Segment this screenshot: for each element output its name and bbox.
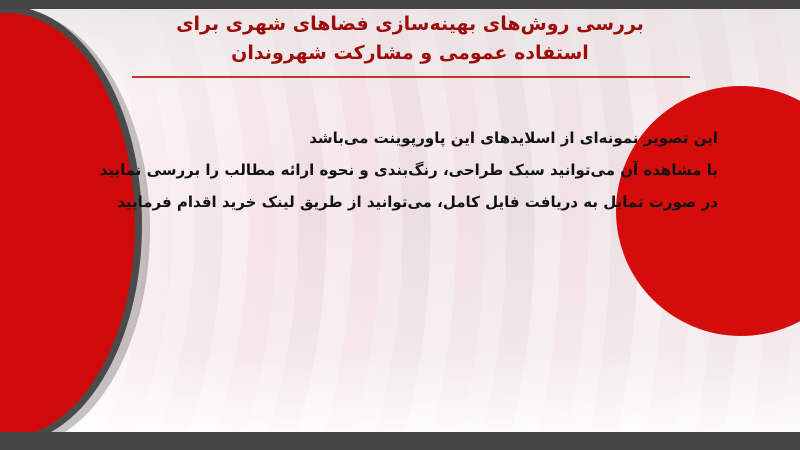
body-line-1: این تصویر نمونه‌ای از اسلایدهای این پاور… [78,122,718,154]
slide-content: بررسی روش‌های بهینه‌سازی فضاهای شهری برا… [0,0,800,450]
slide-body-text: این تصویر نمونه‌ای از اسلایدهای این پاور… [78,122,718,218]
presentation-slide: بررسی روش‌های بهینه‌سازی فضاهای شهری برا… [0,0,800,450]
title-line-2: استفاده عمومی و مشارکت شهروندان [120,39,700,68]
slide-frame-bottom-border [0,432,800,450]
title-line-1: بررسی روش‌های بهینه‌سازی فضاهای شهری برا… [120,10,700,39]
title-underline [132,76,690,78]
slide-title: بررسی روش‌های بهینه‌سازی فضاهای شهری برا… [120,10,700,68]
body-line-2: با مشاهده آن می‌توانید سبک طراحی، رنگ‌بن… [78,154,718,186]
slide-frame-top-border [0,0,800,9]
body-line-3: در صورت تمایل به دریافت فایل کامل، می‌تو… [78,186,718,218]
